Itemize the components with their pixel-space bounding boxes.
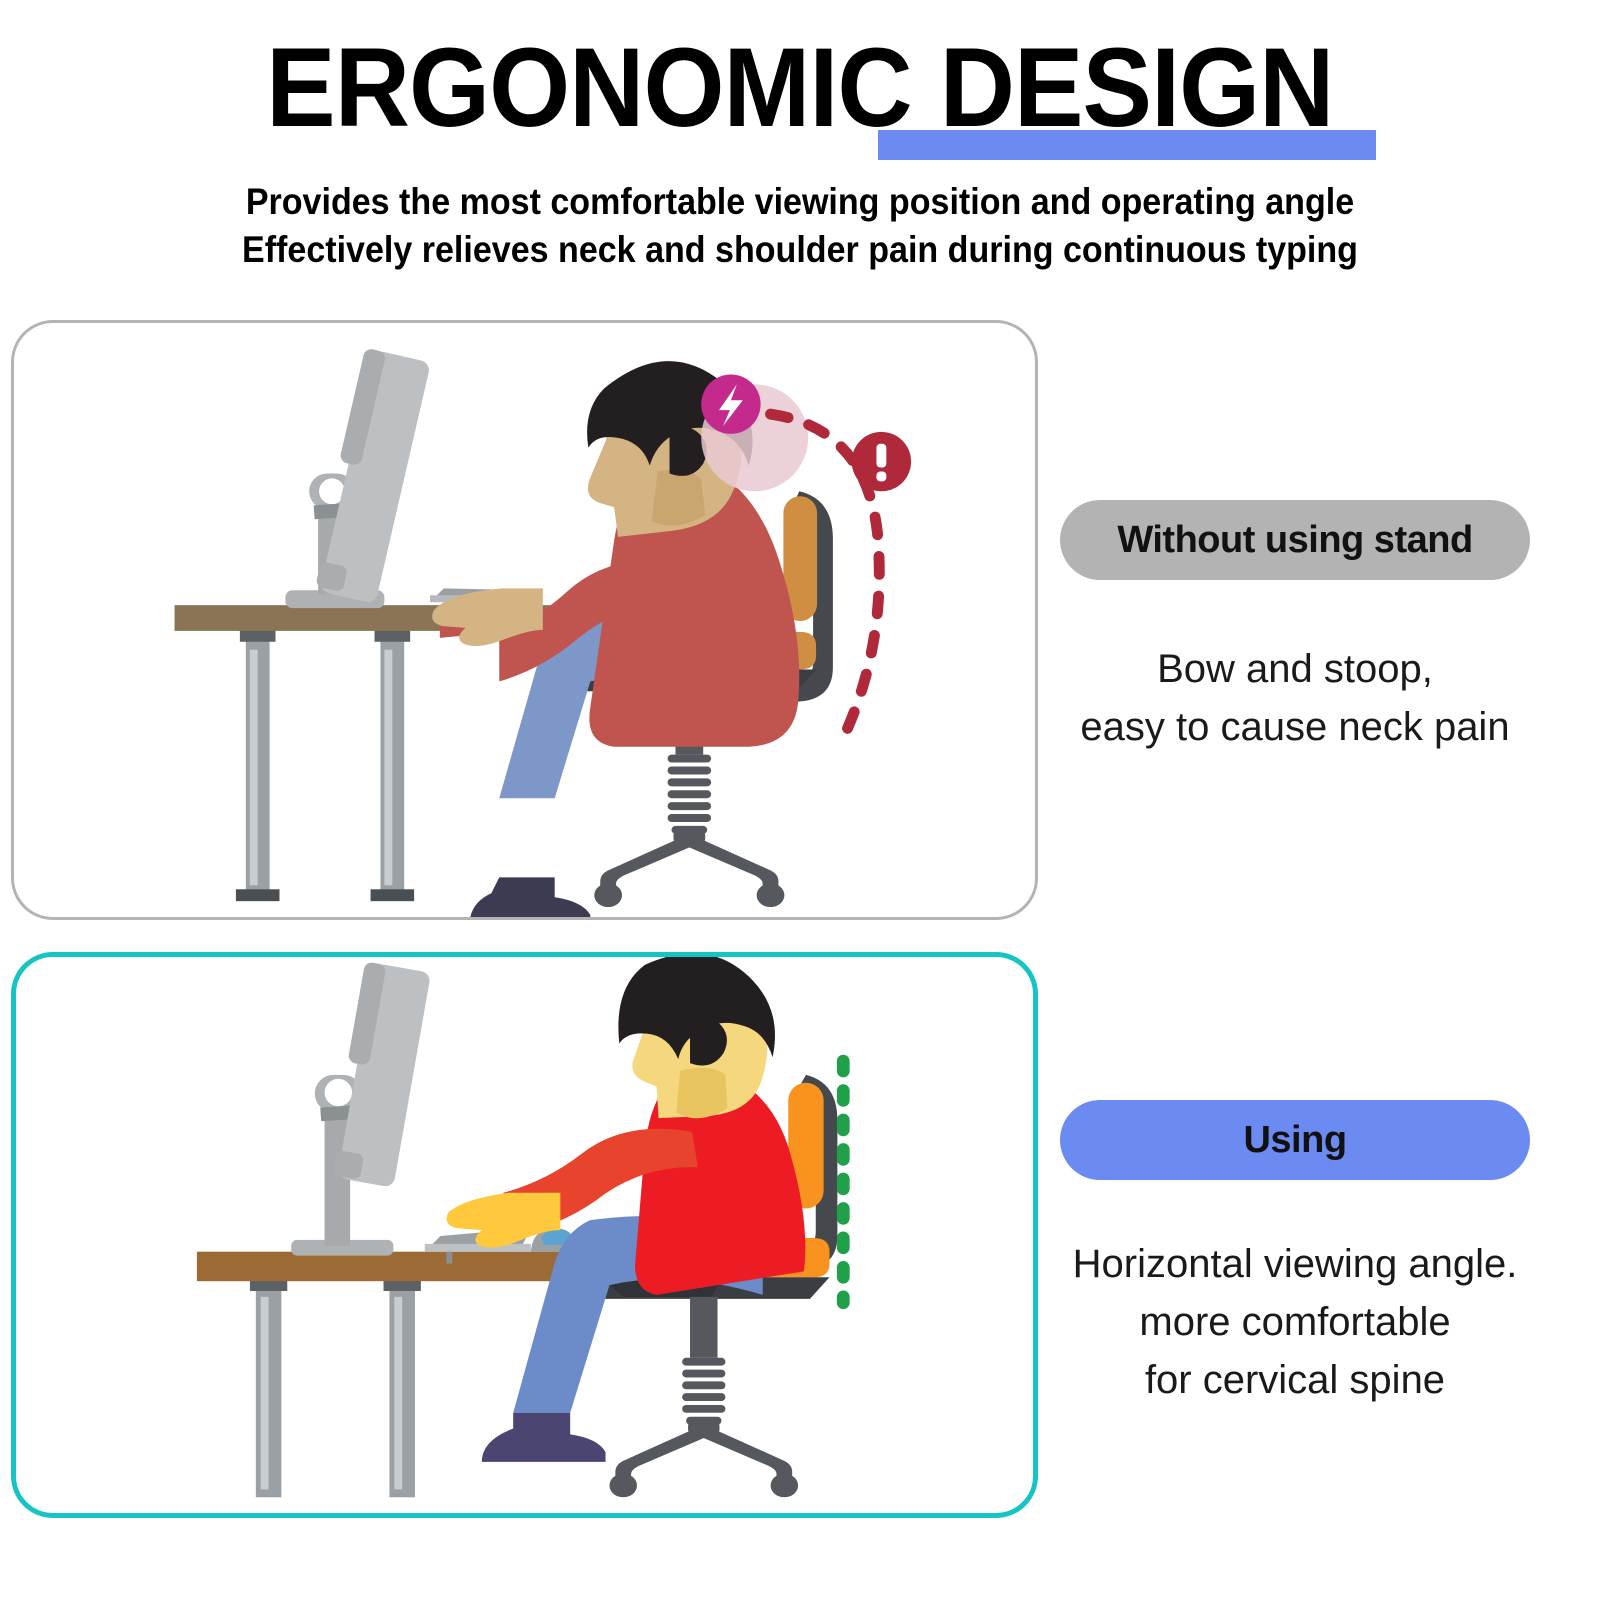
subtitle-line-1: Provides the most comfortable viewing po… xyxy=(64,178,1536,226)
lightning-bolt-icon xyxy=(701,374,760,433)
monitor-group xyxy=(285,348,430,608)
badge-without-stand[interactable]: Without using stand xyxy=(1060,500,1530,580)
neck xyxy=(676,1068,727,1118)
caption-without-stand-line-2: easy to cause neck pain xyxy=(1045,698,1545,756)
header: ERGONOMIC DESIGN Provides the most comfo… xyxy=(0,0,1600,300)
caption-using-stand-line-1: Horizontal viewing angle. xyxy=(1035,1235,1555,1293)
title-wrapper: ERGONOMIC DESIGN xyxy=(0,28,1600,148)
caption-using-stand-line-3: for cervical spine xyxy=(1035,1351,1555,1409)
shoe xyxy=(470,877,591,917)
badge-using-stand[interactable]: Using xyxy=(1060,1100,1530,1180)
monitor-group xyxy=(291,961,431,1255)
subtitle-line-2: Effectively relieves neck and shoulder p… xyxy=(64,226,1536,274)
neck xyxy=(652,470,705,526)
shoe xyxy=(482,1413,606,1462)
illustration-using-stand xyxy=(16,957,1033,1513)
person-group-slouched xyxy=(432,361,911,917)
panel-using-stand xyxy=(11,952,1038,1518)
caption-using-stand-line-2: more comfortable xyxy=(1035,1293,1555,1351)
person-group-upright xyxy=(447,957,844,1462)
caption-without-stand: Bow and stoop, easy to cause neck pain xyxy=(1045,640,1545,756)
page-title: ERGONOMIC DESIGN xyxy=(266,28,1333,148)
caption-using-stand: Horizontal viewing angle. more comfortab… xyxy=(1035,1235,1555,1409)
badge-without-stand-label: Without using stand xyxy=(1117,519,1472,562)
panel-without-stand xyxy=(11,320,1038,920)
desk-top xyxy=(197,1252,575,1281)
subtitle: Provides the most comfortable viewing po… xyxy=(0,178,1600,274)
illustration-without-stand xyxy=(14,323,1035,917)
caption-without-stand-line-1: Bow and stoop, xyxy=(1045,640,1545,698)
exclamation-icon xyxy=(852,432,911,491)
badge-using-stand-label: Using xyxy=(1243,1119,1346,1162)
